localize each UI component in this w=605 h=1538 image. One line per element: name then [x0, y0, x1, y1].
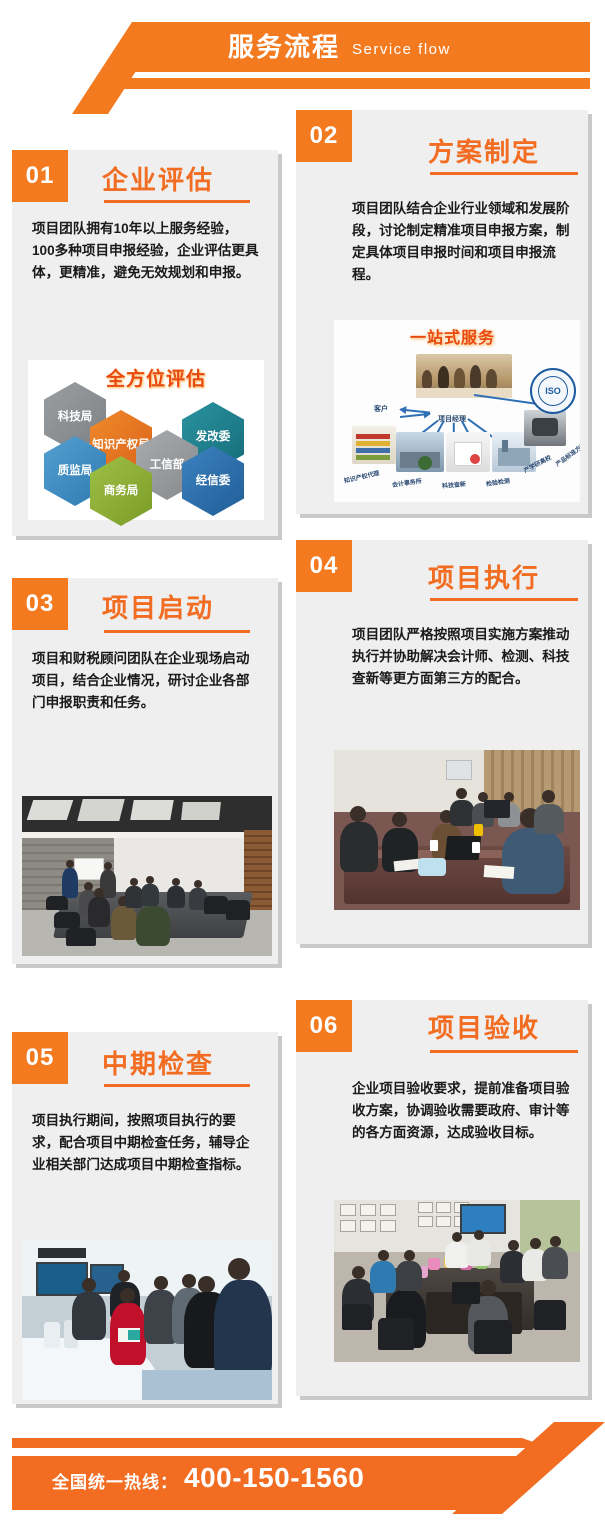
- service-flow-infographic: 服务流程 Service flow 01 企业评估 项目团队拥有10年以上服务经…: [0, 0, 605, 1538]
- card-title: 项目启动: [102, 588, 214, 625]
- page-footer: 全国统一热线： 400-150-1560: [0, 1422, 605, 1538]
- hex-node-label: 发改委: [196, 431, 231, 444]
- hex-node-label: 科技局: [58, 411, 93, 424]
- branch-label-2: 科技查新: [442, 479, 467, 490]
- card-number-badge: 05: [12, 1032, 68, 1084]
- flow-card-02: 02 方案制定 项目团队结合企业行业领域和发展阶段，讨论制定精准项目申报方案，制…: [296, 110, 596, 522]
- photo-scene: [22, 1240, 272, 1400]
- footer-stripe: [12, 1438, 550, 1448]
- card-number-badge: 02: [296, 110, 352, 162]
- one-stop-center-photo: [416, 354, 512, 398]
- card-number-badge: 03: [12, 578, 68, 630]
- hex-node-label: 质监局: [58, 465, 93, 478]
- page-subtitle: Service flow: [352, 34, 451, 66]
- branch-node-books: [352, 426, 396, 464]
- title-underline: [430, 172, 578, 175]
- hex-node-label: 工信部: [150, 459, 185, 472]
- flow-card-05: 05 中期检查 项目执行期间，按照项目执行的要求，配合项目中期检查任务，辅导企业…: [12, 1032, 286, 1412]
- title-underline: [104, 630, 250, 633]
- branch-node-accounting: [396, 432, 444, 472]
- card-title: 企业评估: [102, 160, 214, 197]
- one-stop-label-customer: 客户: [374, 404, 388, 414]
- card-number-badge: 04: [296, 540, 352, 592]
- iso-seal-icon: ISO: [530, 368, 576, 414]
- hex-node-label: 经信委: [196, 475, 231, 488]
- card-title: 项目验收: [428, 1008, 540, 1045]
- branch-node-research: [446, 432, 490, 472]
- flow-card-03: 03 项目启动 项目和财税顾问团队在企业现场启动项目，结合企业情况，研讨企业各部…: [12, 578, 286, 972]
- branch-node-university: [524, 410, 566, 446]
- hotline-phone[interactable]: 400-150-1560: [184, 1462, 364, 1494]
- photo-acceptance-meeting: [334, 1200, 580, 1362]
- card-description: 项目和财税顾问团队在企业现场启动项目，结合企业情况，研讨企业各部门申报职责和任务…: [32, 648, 260, 714]
- photo-scene: [334, 1200, 580, 1362]
- photo-working-session: [334, 750, 580, 910]
- flow-card-04: 04 项目执行 项目团队严格按照项目实施方案推动执行并协助解决会计师、检测、科技…: [296, 540, 596, 952]
- hotline-label: 全国统一热线：: [52, 1468, 178, 1493]
- flow-card-01: 01 企业评估 项目团队拥有10年以上服务经验，100多种项目申报经验，企业评估…: [12, 150, 286, 544]
- photo-meeting-room: [22, 796, 272, 956]
- card-description: 项目执行期间，按照项目执行的要求，配合项目中期检查任务，辅导企业相关部门达成项目…: [32, 1110, 260, 1176]
- title-underline: [430, 598, 578, 601]
- branch-label-3: 检验检测: [485, 476, 510, 488]
- title-underline: [104, 200, 250, 203]
- flow-card-06: 06 项目验收 企业项目验收要求，提前准备项目验收方案，协调验收需要政府、审计等…: [296, 1000, 596, 1404]
- card-description: 企业项目验收要求，提前准备项目验收方案，协调验收需要政府、审计等的各方面资源，达…: [352, 1078, 574, 1144]
- hexagon-chart-title: 全方位评估: [106, 364, 206, 391]
- page-title: 服务流程: [228, 26, 340, 68]
- title-underline: [104, 1084, 250, 1087]
- card-number-badge: 01: [12, 150, 68, 202]
- card-title: 项目执行: [428, 558, 540, 595]
- photo-scene: [22, 796, 272, 956]
- photo-site-visit: [22, 1240, 272, 1400]
- one-stop-service-diagram: 一站式服务 客户 项目经理: [334, 320, 580, 502]
- hex-node-label: 商务局: [104, 485, 139, 498]
- card-title: 中期检查: [102, 1044, 214, 1081]
- hexagon-chart: 全方位评估 科技局 知识产权局 发改委 质监局 工信部 经信委 商务局: [28, 360, 264, 520]
- branch-label-0: 知识产权代理: [343, 468, 380, 485]
- iso-seal-text: ISO: [538, 376, 568, 406]
- title-underline: [430, 1050, 578, 1053]
- photo-scene: [334, 750, 580, 910]
- header-stripe: [104, 78, 590, 89]
- card-description: 项目团队结合企业行业领域和发展阶段，讨论制定精准项目申报方案，制定具体项目申报时…: [352, 198, 574, 286]
- one-stop-title: 一站式服务: [410, 324, 495, 348]
- card-description: 项目团队严格按照项目实施方案推动执行并协助解决会计师、检测、科技查新等更方面第三…: [352, 624, 574, 690]
- card-description: 项目团队拥有10年以上服务经验，100多种项目申报经验，企业评估更具体，更精准，…: [32, 218, 260, 284]
- branch-label-1: 会计事务所: [391, 476, 422, 489]
- card-title: 方案制定: [428, 132, 540, 169]
- page-header: 服务流程 Service flow: [0, 0, 605, 112]
- card-number-badge: 06: [296, 1000, 352, 1052]
